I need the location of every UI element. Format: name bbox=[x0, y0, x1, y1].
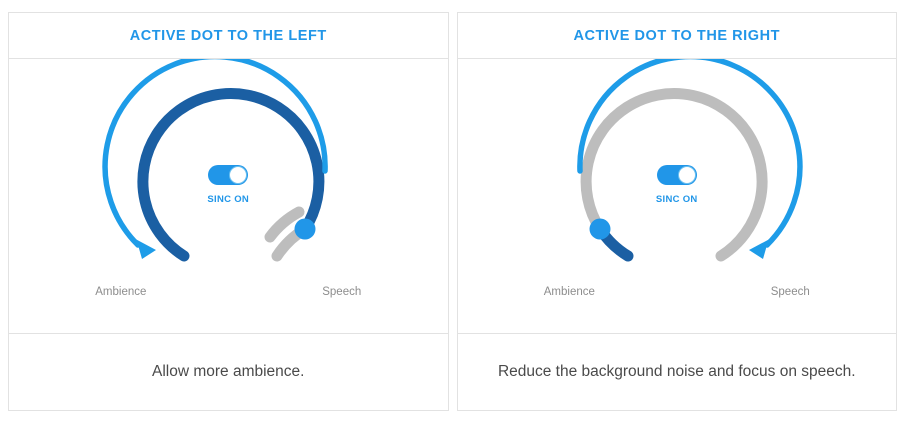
panel-header-right: ACTIVE DOT TO THE RIGHT bbox=[458, 13, 897, 59]
sinc-dial-right[interactable]: SINC ON Ambience Speech bbox=[512, 59, 842, 329]
sinc-dial-left[interactable]: SINC ON Ambience Speech bbox=[63, 59, 393, 329]
sinc-toggle-left[interactable] bbox=[208, 165, 248, 185]
toggle-knob-icon bbox=[678, 166, 696, 184]
direction-arrowhead-left bbox=[126, 234, 156, 259]
panel-title: ACTIVE DOT TO THE RIGHT bbox=[573, 28, 780, 44]
active-dot-right[interactable] bbox=[589, 219, 610, 240]
dial-body-left: SINC ON Ambience Speech bbox=[9, 59, 448, 334]
direction-arrowhead-right bbox=[749, 234, 779, 259]
comparison-container: ACTIVE DOT TO THE LEFT bbox=[0, 0, 905, 421]
dial-label-speech: Speech bbox=[771, 286, 810, 298]
panel-active-dot-left: ACTIVE DOT TO THE LEFT bbox=[8, 12, 449, 411]
panel-caption: Reduce the background noise and focus on… bbox=[498, 363, 856, 381]
panel-caption: Allow more ambience. bbox=[152, 363, 304, 381]
toggle-knob-icon bbox=[229, 166, 247, 184]
dial-label-ambience: Ambience bbox=[95, 286, 146, 298]
panel-footer-right: Reduce the background noise and focus on… bbox=[458, 334, 897, 410]
panel-title: ACTIVE DOT TO THE LEFT bbox=[130, 28, 327, 44]
sinc-toggle-group-left: SINC ON bbox=[63, 165, 393, 205]
sinc-toggle-label: SINC ON bbox=[656, 194, 698, 205]
dial-body-right: SINC ON Ambience Speech bbox=[458, 59, 897, 334]
panel-footer-left: Allow more ambience. bbox=[9, 334, 448, 410]
sinc-toggle-group-right: SINC ON bbox=[512, 165, 842, 205]
dial-label-ambience: Ambience bbox=[544, 286, 595, 298]
panel-active-dot-right: ACTIVE DOT TO THE RIGHT bbox=[457, 12, 898, 411]
direction-arrow-arc-right bbox=[580, 59, 800, 245]
sinc-toggle-label: SINC ON bbox=[207, 194, 249, 205]
sinc-toggle-right[interactable] bbox=[657, 165, 697, 185]
active-dot-left[interactable] bbox=[295, 219, 316, 240]
panel-header-left: ACTIVE DOT TO THE LEFT bbox=[9, 13, 448, 59]
dial-label-speech: Speech bbox=[322, 286, 361, 298]
